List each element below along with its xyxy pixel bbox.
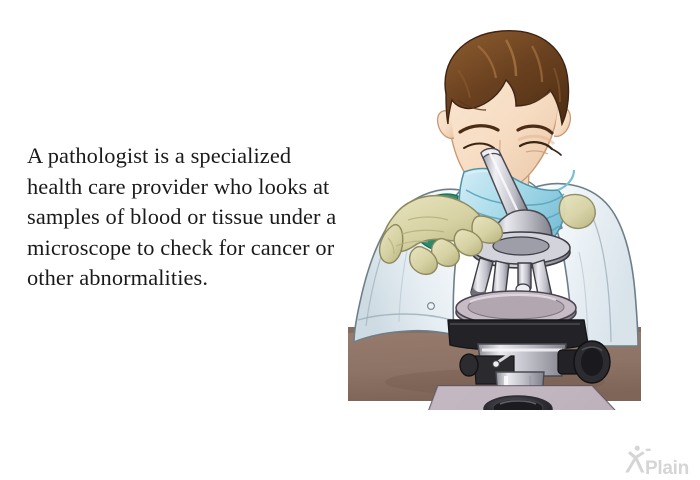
pathologist-microscope-illustration [330,20,700,410]
gloved-hand-right [559,194,595,228]
lab-coat-button [428,303,435,310]
x-plain-figure-icon [624,445,646,473]
microscope-base [426,386,624,410]
microscope-knob-left [460,354,478,376]
x-plain-logo-text: -Plain [645,440,692,478]
slide-canvas: A pathologist is a specialized health ca… [0,0,700,480]
illustration-svg [330,20,700,410]
page-body-text: A pathologist is a specialized health ca… [27,141,349,294]
x-plain-logo: -Plain [624,444,692,474]
